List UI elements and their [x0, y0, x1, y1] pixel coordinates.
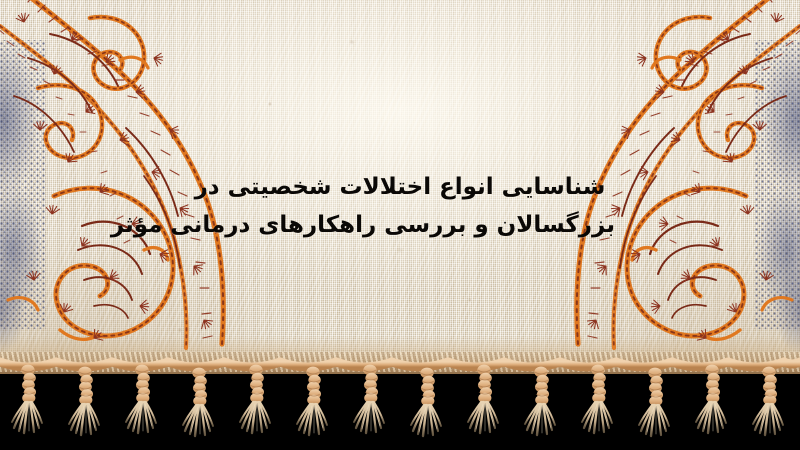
- title-line-2: بزرگسالان و بررسی راهکارهای درمانی مؤثر: [185, 206, 615, 244]
- tassel-fringe-row: [0, 352, 800, 450]
- title-line-1: شناسایی انواع اختلالات شخصیتی در: [185, 168, 615, 206]
- slide-canvas: شناسایی انواع اختلالات شخصیتی در بزرگسال…: [0, 0, 800, 450]
- tassels: [12, 365, 783, 437]
- slide-title: شناسایی انواع اختلالات شخصیتی در بزرگسال…: [185, 168, 615, 244]
